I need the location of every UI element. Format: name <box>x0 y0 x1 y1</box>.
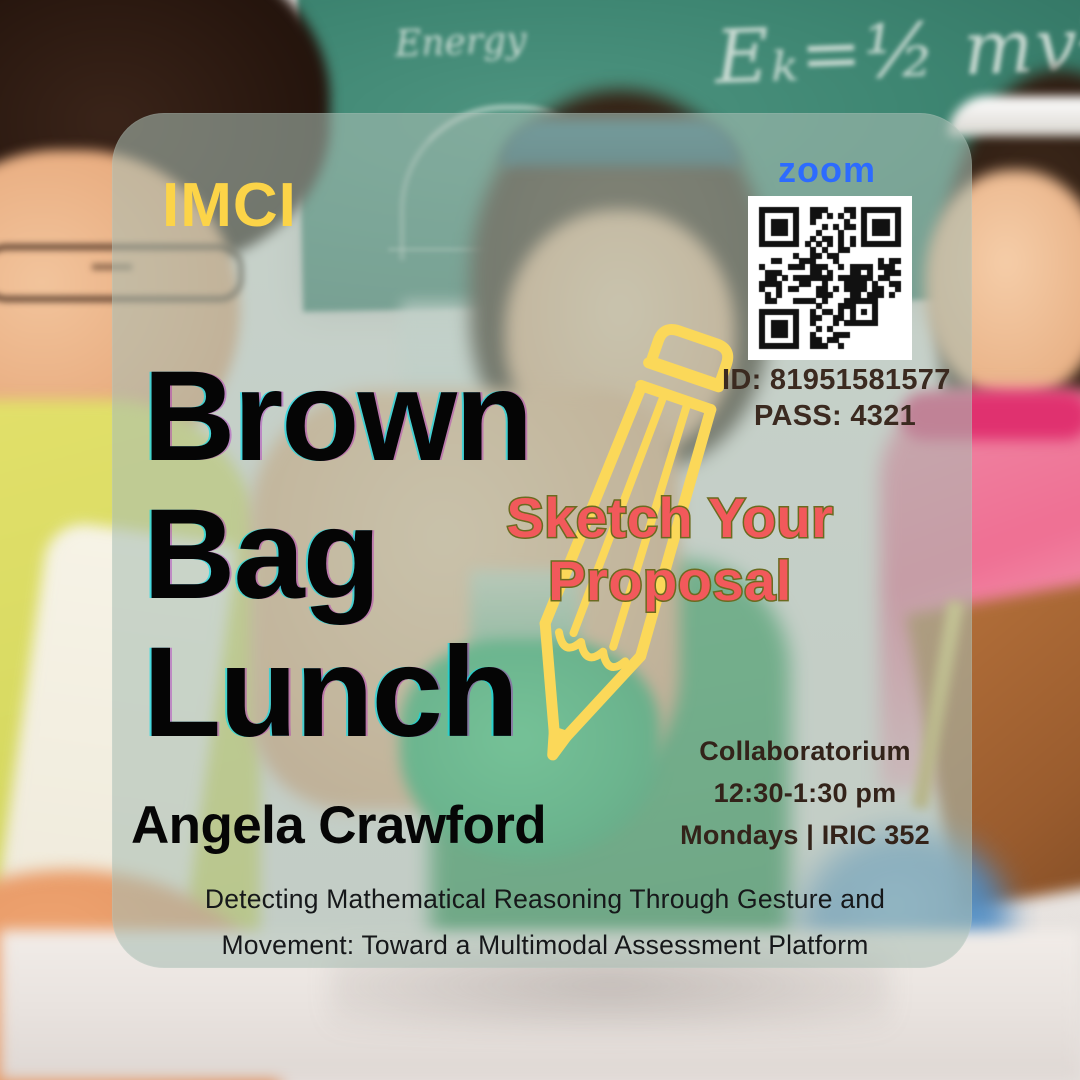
qr-code[interactable] <box>748 196 912 360</box>
talk-title: Detecting Mathematical Reasoning Through… <box>150 877 940 968</box>
organization-label: IMCI <box>162 175 297 237</box>
right-student-headband <box>948 96 1080 136</box>
tagline-line-2: Proposal <box>470 550 870 613</box>
zoom-logo: zoom <box>778 152 876 188</box>
headline-line-1: Brown <box>143 348 531 486</box>
tagline: Sketch Your Proposal <box>470 487 870 612</box>
meeting-id: ID: 81951581577 <box>722 366 951 395</box>
meeting-passcode: PASS: 4321 <box>754 402 916 431</box>
headline-line-3: Lunch <box>143 624 531 762</box>
tagline-line-1: Sketch Your <box>470 487 870 550</box>
speaker-name: Angela Crawford <box>131 795 546 856</box>
poster-canvas: Energy Eₖ=½ mv² IMCI Brown Ba <box>0 0 1080 1080</box>
event-details: Collaboratorium 12:30-1:30 pm Mondays | … <box>655 731 955 857</box>
talk-title-line-2: Movement: Toward a Multimodal Assessment… <box>150 923 940 969</box>
event-time: 12:30-1:30 pm <box>655 773 955 815</box>
event-venue: Collaboratorium <box>655 731 955 773</box>
talk-title-line-1: Detecting Mathematical Reasoning Through… <box>150 877 940 923</box>
qr-code-canvas[interactable] <box>748 196 912 360</box>
event-day-room: Mondays | IRIC 352 <box>655 815 955 857</box>
